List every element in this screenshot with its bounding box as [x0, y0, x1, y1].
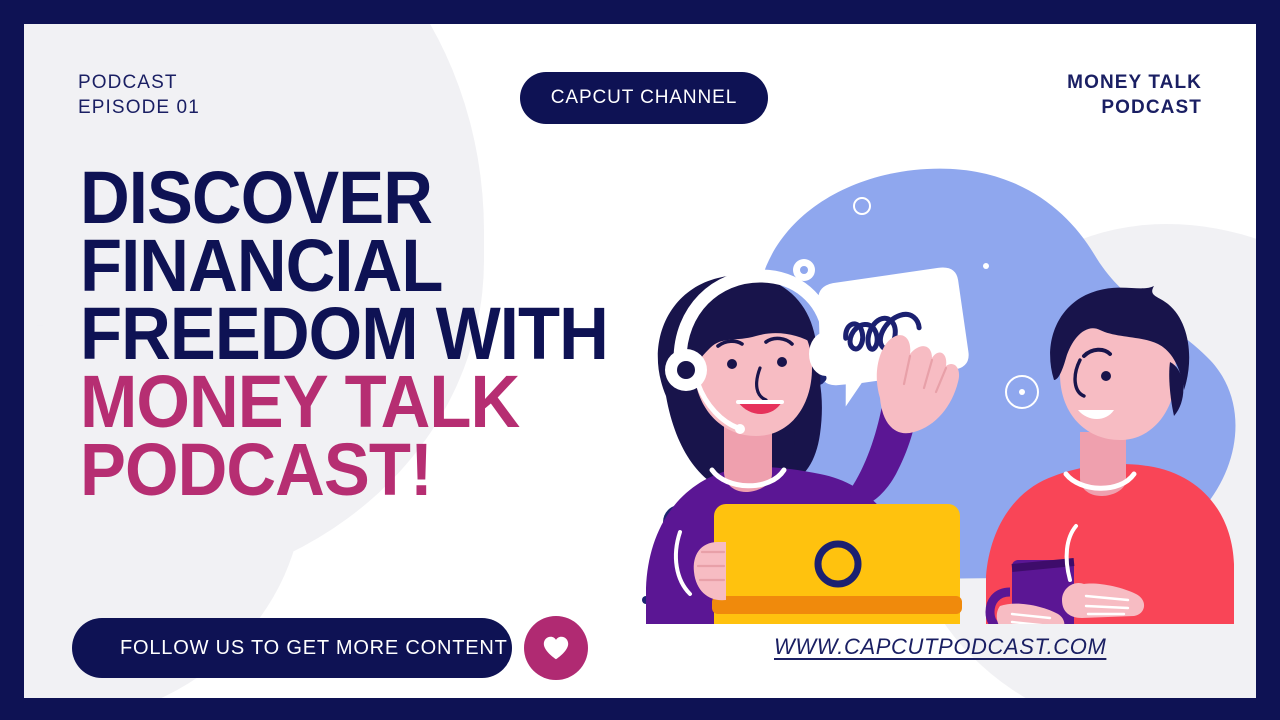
headline-line-5: PODCAST!: [80, 436, 582, 504]
headline-block: DISCOVER FINANCIAL FREEDOM WITH MONEY TA…: [80, 164, 620, 504]
decor-ring-3-center: [1019, 389, 1025, 395]
decor-tiny-dot-1: [983, 263, 989, 269]
host-eye-left: [727, 359, 737, 369]
brand-line-1: MONEY TALK: [1067, 70, 1202, 95]
headline-line-3: FREEDOM WITH: [80, 300, 582, 368]
episode-eyebrow: PODCAST EPISODE 01: [78, 70, 200, 120]
headline-line-4: MONEY TALK: [80, 368, 582, 436]
laptop-base: [712, 596, 962, 614]
channel-badge[interactable]: CAPCUT CHANNEL: [520, 72, 768, 124]
headline-line-1: DISCOVER: [80, 164, 582, 232]
follow-cta-label: FOLLOW US TO GET MORE CONTENT: [72, 637, 508, 660]
heart-icon-button[interactable]: [524, 616, 588, 680]
eyebrow-line-2: EPISODE 01: [78, 95, 200, 120]
yellow-laptop: [712, 504, 962, 624]
podcast-illustration: [614, 144, 1254, 624]
poster-card: PODCAST EPISODE 01 CAPCUT CHANNEL MONEY …: [24, 24, 1256, 698]
poster-canvas: PODCAST EPISODE 01 CAPCUT CHANNEL MONEY …: [0, 0, 1280, 720]
host-eye-right: [777, 357, 787, 367]
eyebrow-line-1: PODCAST: [78, 70, 200, 95]
heart-icon: [541, 633, 571, 663]
guest-eye: [1101, 371, 1111, 381]
website-link-label: WWW.CAPCUTPODCAST.COM: [774, 634, 1106, 659]
follow-cta-button[interactable]: FOLLOW US TO GET MORE CONTENT: [72, 618, 512, 678]
brand-title: MONEY TALK PODCAST: [1067, 70, 1202, 120]
decor-dot-inner-1: [800, 266, 808, 274]
website-link[interactable]: WWW.CAPCUTPODCAST.COM: [774, 634, 1106, 660]
headline-line-2: FINANCIAL: [80, 232, 582, 300]
channel-badge-label: CAPCUT CHANNEL: [551, 87, 737, 109]
brand-line-2: PODCAST: [1067, 95, 1202, 120]
